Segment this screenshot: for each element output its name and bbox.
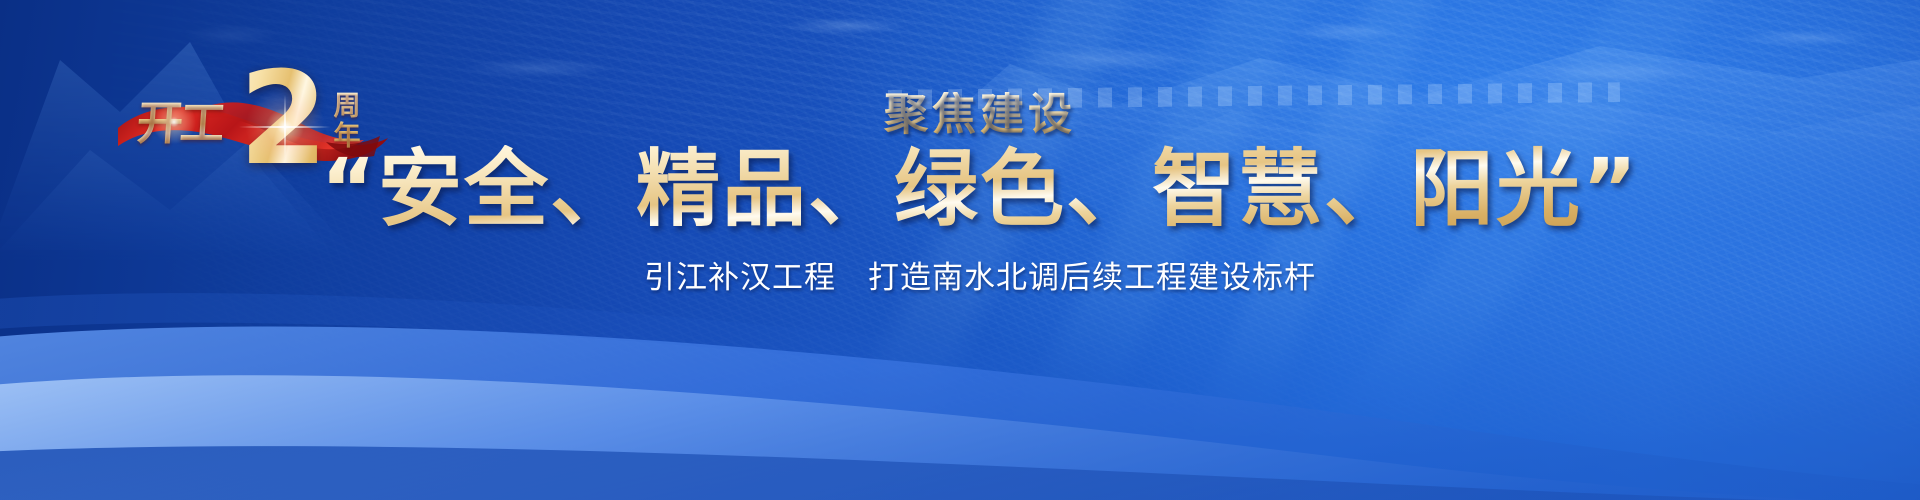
subtitle-text: 引江补汉工程 打造南水北调后续工程建设标杆 <box>300 260 1660 297</box>
banner-copy: 聚焦建设 “安全、精品、绿色、智慧、阳光” 引江补汉工程 打造南水北调后续工程建… <box>300 92 1660 297</box>
logo-sparkle-small <box>148 96 200 148</box>
eyebrow-text: 聚焦建设 <box>300 92 1660 139</box>
headline-text: “安全、精品、绿色、智慧、阳光” <box>300 145 1660 234</box>
promo-banner: 开工 2 周年 聚焦建设 “安全、精品、绿色、智慧、阳光” 引江补汉工程 打造南… <box>0 0 1920 500</box>
